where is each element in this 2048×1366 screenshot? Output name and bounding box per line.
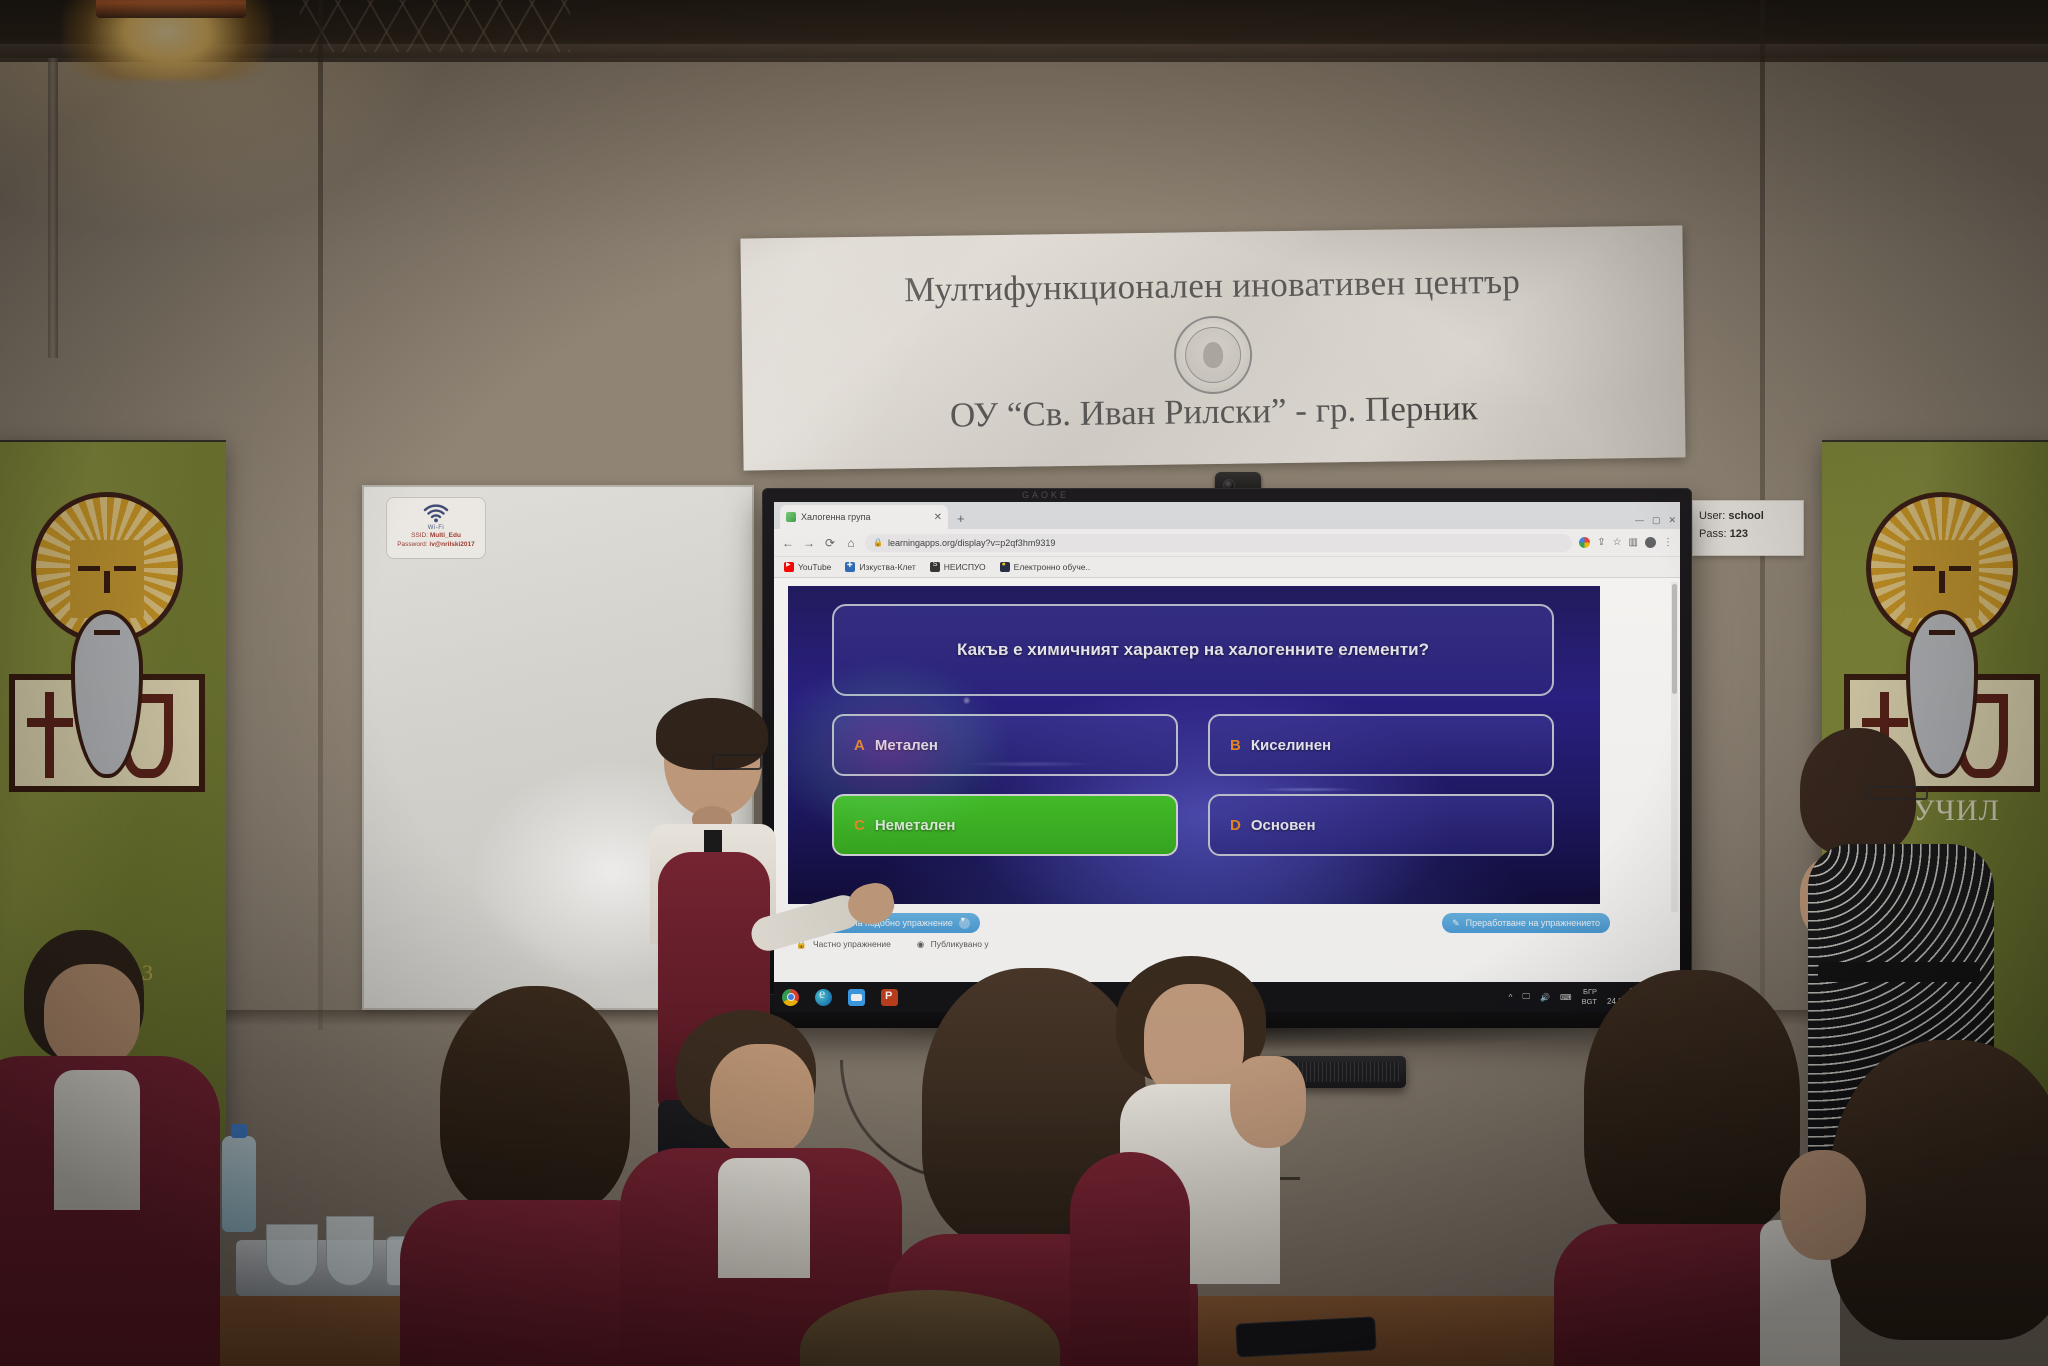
- student-vest: [1070, 1152, 1190, 1366]
- browser-tabstrip: Халогенна група ✕ + — ▢ ✕: [774, 502, 1680, 529]
- lamp-fixture: [96, 0, 246, 18]
- pencil-icon: ✎: [1452, 918, 1460, 929]
- teacher-belt: [1818, 962, 1980, 982]
- wifi-ssid-label: SSID:: [411, 532, 428, 539]
- wifi-password-label: Password:: [397, 541, 427, 548]
- saint-illustration: [7, 492, 207, 792]
- bookmark-label: НЕИСПУО: [944, 562, 986, 572]
- student-hand: [1230, 1056, 1306, 1148]
- seal-inner-ring: [1185, 327, 1242, 384]
- login-pass-row: Pass: 123: [1699, 525, 1803, 543]
- saint-mouth: [1929, 630, 1955, 635]
- saint-brow-left: [1913, 566, 1935, 571]
- seated-student-1: [0, 930, 210, 1366]
- page-scrollbar[interactable]: [1671, 582, 1678, 912]
- bookmark-label: Изкуства-Клет: [859, 562, 915, 572]
- lab-flask-2: [326, 1216, 374, 1286]
- browser-toolbar: ← → ⟳ ⌂ 🔒 learningapps.org/display?v=p2q…: [774, 529, 1680, 557]
- google-icon[interactable]: [1579, 537, 1590, 548]
- ceiling-lattice: [300, 0, 570, 52]
- saint-brow-left: [78, 566, 100, 571]
- login-pass-label: Pass:: [1699, 528, 1727, 540]
- answer-grid: A Метален B Киселинен C Неметален D Осно…: [832, 714, 1554, 856]
- tab-favicon-icon: [786, 512, 796, 522]
- browser-tab[interactable]: Халогенна група ✕: [780, 505, 948, 529]
- answer-letter: C: [854, 817, 865, 834]
- toolbar-icons: ⇪ ☆ ▥ ⋮: [1579, 537, 1673, 548]
- glasses-icon: [712, 754, 762, 770]
- rework-label: Преработване на упражнението: [1466, 918, 1600, 928]
- rollup-top-bar: [1822, 440, 2048, 442]
- wifi-ssid-line: SSID: Multi_Edu: [387, 531, 485, 540]
- answer-letter: D: [1230, 817, 1241, 834]
- address-bar-url: learningapps.org/display?v=p2qf3hm9319: [888, 538, 1055, 548]
- seated-student-8: [800, 1290, 1060, 1366]
- maximize-button[interactable]: ▢: [1652, 515, 1661, 526]
- saint-mouth: [94, 630, 120, 635]
- rollup-top-bar: [0, 440, 226, 442]
- school-seal-icon: [1174, 315, 1253, 394]
- login-user-label: User:: [1699, 510, 1725, 522]
- network-icon[interactable]: 🖵: [1522, 992, 1530, 1002]
- seated-student-5: [1080, 956, 1320, 1366]
- youtube-icon: [784, 562, 794, 572]
- new-tab-button[interactable]: +: [957, 511, 965, 526]
- bookmark-label: Електронно обуче..: [1014, 562, 1091, 572]
- wifi-info-card: Wi-Fi SSID: Multi_Edu Password: iv@nrils…: [386, 497, 486, 559]
- wall-banner: Мултифункционален иновативен център ОУ “…: [740, 225, 1685, 470]
- student-face: [44, 964, 140, 1068]
- wifi-password-value: iv@nrilski2017: [429, 541, 474, 548]
- student-hair: [800, 1290, 1060, 1366]
- seal-saint-figure: [1203, 342, 1223, 368]
- chrome-browser-window: Халогенна група ✕ + — ▢ ✕ ← → ⟳ ⌂ 🔒 lear…: [774, 502, 1680, 982]
- wifi-ssid-value: Multi_Edu: [430, 532, 461, 539]
- saint-nose: [104, 571, 110, 593]
- glasses-icon: [1866, 786, 1928, 800]
- edge-icon[interactable]: [815, 989, 832, 1006]
- equipment-tray: [236, 1240, 406, 1296]
- student-hair: [1584, 970, 1800, 1238]
- rework-exercise-button[interactable]: ✎ Преработване на упражнението: [1442, 913, 1610, 933]
- side-panel-icon[interactable]: ▥: [1629, 537, 1638, 548]
- private-exercise-label: Частно упражнение: [813, 939, 891, 949]
- display-brand-logo: GAOKE: [1022, 490, 1069, 500]
- bookmarks-bar: YouTube Изкуства-Клет НЕИСПУО Електронно…: [774, 557, 1680, 578]
- quiz-stage: Какъв е химичният характер на халогеннит…: [788, 586, 1600, 904]
- answer-letter: B: [1230, 737, 1241, 754]
- student-shirt: [54, 1070, 140, 1210]
- bookmark-label: YouTube: [798, 562, 831, 572]
- answer-option-b[interactable]: B Киселинен: [1208, 714, 1554, 776]
- minimize-button[interactable]: —: [1635, 515, 1644, 526]
- bookmark-klett[interactable]: Изкуства-Клет: [845, 562, 915, 572]
- reload-icon[interactable]: ⟳: [823, 536, 837, 550]
- window-close-button[interactable]: ✕: [1668, 515, 1676, 526]
- saint-brow-right: [114, 566, 136, 571]
- bookmark-star-icon[interactable]: ☆: [1613, 537, 1622, 548]
- exercise-meta-row: 🔒 Частно упражнение ◉ Публикувано у: [796, 939, 989, 950]
- answer-label: Неметален: [875, 817, 956, 834]
- bottle-cap: [231, 1124, 247, 1138]
- student-face: [1144, 984, 1244, 1100]
- home-icon[interactable]: ⌂: [844, 536, 858, 550]
- private-exercise-tag[interactable]: 🔒 Частно упражнение: [796, 939, 891, 950]
- media-app-icon[interactable]: [848, 989, 865, 1006]
- lock-icon: 🔒: [873, 538, 883, 547]
- bookmark-elearning[interactable]: Електронно обуче..: [1000, 562, 1091, 572]
- login-user-value: school: [1728, 510, 1763, 522]
- wall-seam-left: [318, 0, 323, 1030]
- wall-pipe: [48, 58, 58, 358]
- student-hand: [1780, 1150, 1866, 1260]
- banner-title: Мултифункционален иновативен център: [741, 259, 1683, 312]
- bookmark-youtube[interactable]: YouTube: [784, 562, 831, 572]
- bookmark-neispuo[interactable]: НЕИСПУО: [930, 562, 986, 572]
- e-learning-icon: [1000, 562, 1010, 572]
- address-bar[interactable]: 🔒 learningapps.org/display?v=p2qf3hm9319: [865, 534, 1572, 552]
- answer-label: Киселинен: [1251, 737, 1331, 754]
- login-credentials-sign: User: school Pass: 123: [1692, 500, 1804, 556]
- cross-horizontal: [1862, 718, 1908, 727]
- login-pass-value: 123: [1730, 528, 1748, 540]
- wifi-icon: [387, 501, 485, 525]
- published-tag[interactable]: ◉ Публикувано у: [917, 939, 989, 950]
- three-dot-menu-icon[interactable]: ⋮: [1663, 537, 1673, 548]
- powerpoint-icon[interactable]: [881, 989, 898, 1006]
- answer-option-c[interactable]: C Неметален: [832, 794, 1178, 856]
- saint-face: [1905, 540, 1979, 618]
- tray-chevron-icon[interactable]: ^: [1509, 993, 1513, 1002]
- question-box: Какъв е химичният характер на халогеннит…: [832, 604, 1554, 696]
- banner-subtitle: ОУ “Св. Иван Рилски” - гр. Перник: [743, 385, 1685, 438]
- cross-vertical: [45, 692, 54, 778]
- back-icon[interactable]: ←: [781, 536, 795, 550]
- student-shirt: [718, 1158, 810, 1278]
- forward-icon[interactable]: →: [802, 536, 816, 550]
- learningapps-page: Какъв е химичният характер на халогеннит…: [774, 578, 1680, 982]
- scrollbar-thumb[interactable]: [1672, 584, 1677, 694]
- login-user-row: User: school: [1699, 507, 1803, 525]
- volume-icon[interactable]: 🔊: [1540, 993, 1550, 1002]
- saint-nose: [1939, 571, 1945, 593]
- student-face: [710, 1044, 814, 1156]
- klett-icon: [845, 562, 855, 572]
- chevron-down-icon[interactable]: [959, 918, 970, 929]
- cross-horizontal: [27, 718, 73, 727]
- tab-title: Халогенна група: [801, 512, 929, 522]
- answer-letter: A: [854, 737, 865, 754]
- profile-avatar-icon[interactable]: [1645, 537, 1656, 548]
- student-hair: [440, 986, 630, 1216]
- share-icon[interactable]: ⇪: [1597, 537, 1605, 548]
- water-bottle: [222, 1136, 256, 1232]
- saint-brow-right: [1949, 566, 1971, 571]
- close-icon[interactable]: ✕: [934, 512, 942, 523]
- answer-label: Метален: [875, 737, 938, 754]
- wifi-password-line: Password: iv@nrilski2017: [387, 540, 485, 549]
- answer-label: Основен: [1251, 817, 1316, 834]
- neispuo-icon: [930, 562, 940, 572]
- question-text: Какъв е химичният характер на халогеннит…: [957, 638, 1429, 662]
- answer-option-d[interactable]: D Основен: [1208, 794, 1554, 856]
- seated-student-7: [1790, 1040, 2048, 1366]
- eye-icon: ◉: [917, 939, 924, 949]
- window-controls[interactable]: — ▢ ✕: [1635, 515, 1676, 526]
- classroom-photo-scene: Мултифункционален иновативен център ОУ “…: [0, 0, 2048, 1366]
- lab-flask-1: [266, 1224, 318, 1286]
- saint-face: [70, 540, 144, 618]
- answer-option-a[interactable]: A Метален: [832, 714, 1178, 776]
- published-label: Публикувано у: [931, 939, 989, 949]
